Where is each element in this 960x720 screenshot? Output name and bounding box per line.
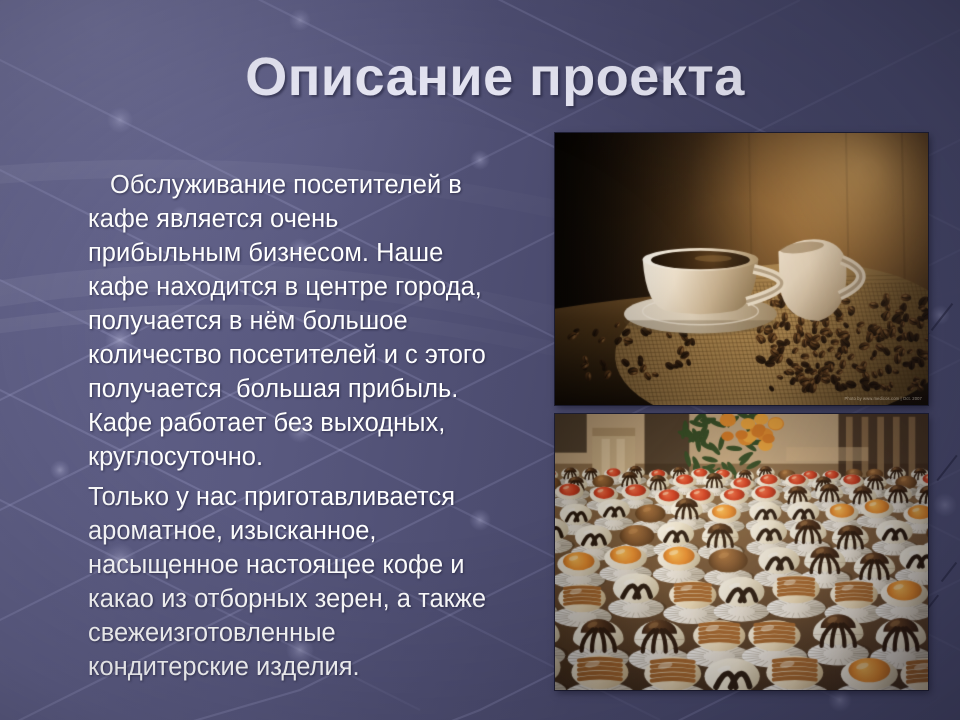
diagonal-accent-1: [931, 303, 954, 331]
pastries-photo: [555, 414, 928, 690]
body-paragraph-2: Только у нас приготавливается ароматное,…: [88, 480, 488, 684]
coffee-cup-image: [555, 133, 928, 405]
diagonal-accent-5: [941, 562, 957, 582]
coffee-cup-photo: Photo by www.medicos.com | Oct. 2007: [555, 133, 928, 405]
slide-title: Описание проекта: [0, 46, 960, 108]
pastries-image: [555, 414, 928, 690]
diagonal-accent-3: [936, 455, 957, 481]
slide-body-text: Обслуживание посетителей в кафе является…: [88, 168, 488, 690]
presentation-slide: Описание проекта Обслуживание посетителе…: [0, 0, 960, 720]
photo-watermark: Photo by www.medicos.com | Oct. 2007: [844, 396, 922, 401]
body-paragraph-1: Обслуживание посетителей в кафе является…: [88, 168, 488, 474]
